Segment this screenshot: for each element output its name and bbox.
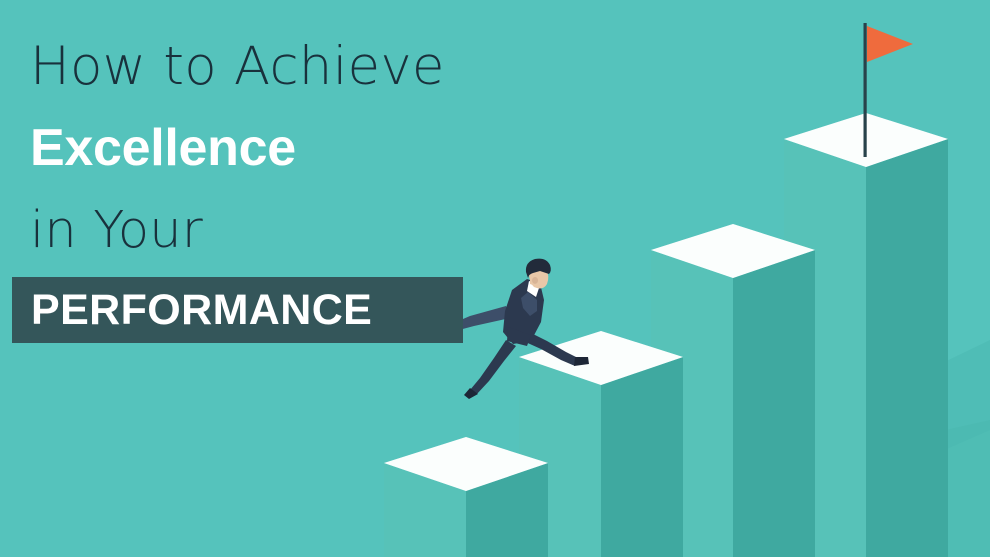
headline-line-2-excellence: Excellence	[30, 122, 296, 174]
pillar-3-right-face	[733, 250, 815, 557]
headline-line-3: in Your	[30, 205, 203, 256]
headline-line-1: How to Achieve	[30, 40, 445, 93]
figure-ear	[532, 277, 538, 284]
headline-line-4-performance: PERFORMANCE	[31, 288, 372, 332]
pillar-2-right-face	[601, 357, 683, 557]
flag-pole	[864, 23, 867, 157]
pillar-4-right-face	[866, 139, 948, 557]
performance-highlight-band: PERFORMANCE	[12, 277, 463, 343]
promo-banner: How to Achieve Excellence in Your PERFOR…	[0, 0, 990, 557]
